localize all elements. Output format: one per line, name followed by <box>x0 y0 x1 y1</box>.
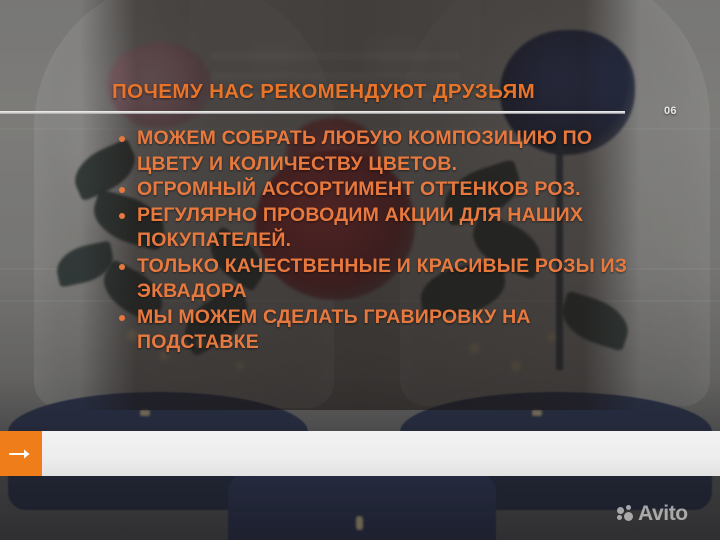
title-divider <box>0 111 625 114</box>
bottom-bar <box>0 431 720 476</box>
list-item: РЕГУЛЯРНО ПРОВОДИМ АКЦИИ ДЛЯ НАШИХ ПОКУП… <box>112 203 642 254</box>
next-slide-button[interactable] <box>0 431 42 476</box>
avito-wordmark: Avito <box>638 503 688 524</box>
list-item: ТОЛЬКО КАЧЕСТВЕННЫЕ И КРАСИВЫЕ РОЗЫ ИЗ Э… <box>112 254 642 305</box>
page-title: ПОЧЕМУ НАС РЕКОМЕНДУЮТ ДРУЗЬЯМ <box>112 80 535 104</box>
list-item: МОЖЕМ СОБРАТЬ ЛЮБУЮ КОМПОЗИЦИЮ ПО ЦВЕТУ … <box>112 126 642 177</box>
presentation-slide: ПОЧЕМУ НАС РЕКОМЕНДУЮТ ДРУЗЬЯМ 06 МОЖЕМ … <box>0 0 720 540</box>
list-item: ОГРОМНЫЙ АССОРТИМЕНТ ОТТЕНКОВ РОЗ. <box>112 177 642 203</box>
slide-content: ПОЧЕМУ НАС РЕКОМЕНДУЮТ ДРУЗЬЯМ 06 МОЖЕМ … <box>0 0 720 540</box>
arrow-right-icon <box>9 448 33 460</box>
benefits-list: МОЖЕМ СОБРАТЬ ЛЮБУЮ КОМПОЗИЦИЮ ПО ЦВЕТУ … <box>112 126 642 356</box>
avito-watermark: Avito <box>617 503 688 524</box>
avito-dots-icon <box>617 505 634 522</box>
page-number: 06 <box>664 105 677 117</box>
list-item: МЫ МОЖЕМ СДЕЛАТЬ ГРАВИРОВКУ НА ПОДСТАВКЕ <box>112 305 642 356</box>
